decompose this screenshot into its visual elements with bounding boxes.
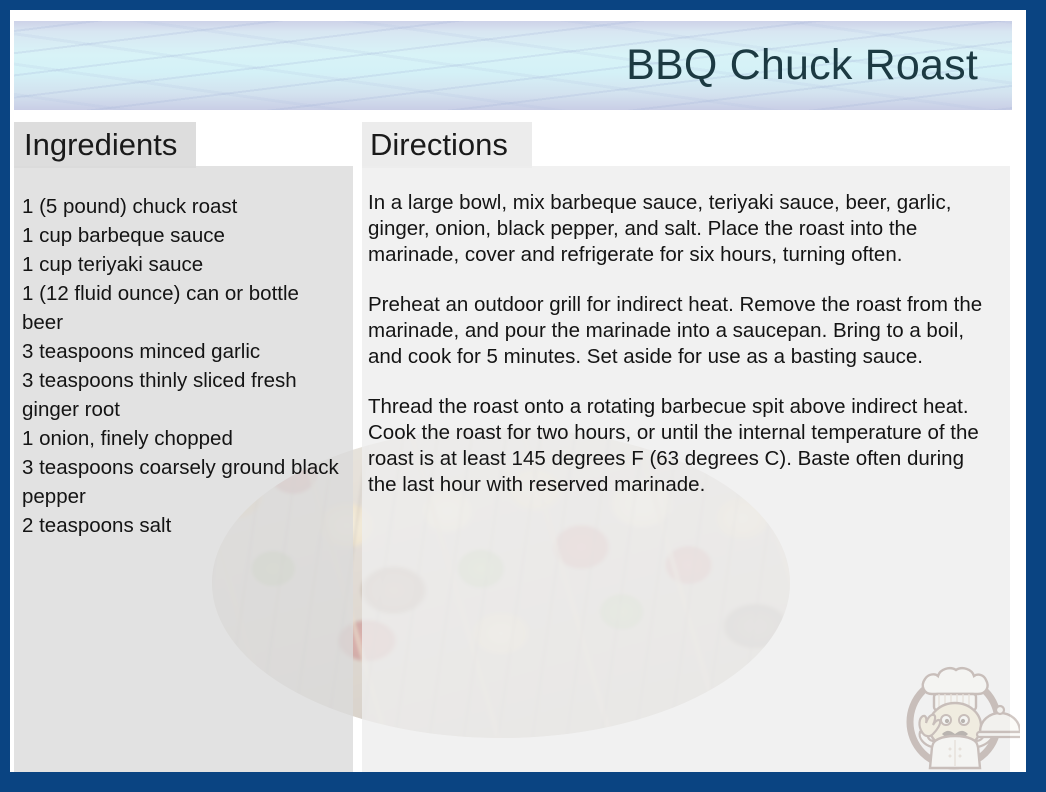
- list-item: 1 (12 fluid ounce) can or bottle beer: [22, 279, 341, 337]
- card-border-bottom: [0, 772, 1046, 792]
- recipe-card: BBQ Chuck Roast Ingredients 1 (5 pound) …: [0, 0, 1046, 792]
- list-item: 2 teaspoons salt: [22, 511, 341, 540]
- chef-logo-icon: [892, 648, 1020, 776]
- directions-tab: Directions: [362, 122, 532, 168]
- directions-heading: Directions: [370, 127, 508, 163]
- ingredients-heading: Ingredients: [24, 127, 177, 163]
- list-item: 1 onion, finely chopped: [22, 424, 341, 453]
- card-border-top: [0, 0, 1046, 10]
- list-item: 3 teaspoons thinly sliced fresh ginger r…: [22, 366, 341, 424]
- list-item: 1 (5 pound) chuck roast: [22, 192, 341, 221]
- direction-step: Preheat an outdoor grill for indirect he…: [368, 292, 996, 370]
- card-border-right: [1026, 0, 1046, 792]
- ingredient-list: 1 (5 pound) chuck roast 1 cup barbeque s…: [22, 192, 341, 540]
- list-item: 1 cup teriyaki sauce: [22, 250, 341, 279]
- header-banner: BBQ Chuck Roast: [14, 21, 1012, 110]
- ingredients-panel: 1 (5 pound) chuck roast 1 cup barbeque s…: [14, 166, 353, 772]
- direction-step: Thread the roast onto a rotating barbecu…: [368, 394, 996, 498]
- ingredients-tab: Ingredients: [14, 122, 196, 168]
- list-item: 3 teaspoons coarsely ground black pepper: [22, 453, 341, 511]
- page-title: BBQ Chuck Roast: [626, 41, 1012, 90]
- list-item: 3 teaspoons minced garlic: [22, 337, 341, 366]
- direction-step: In a large bowl, mix barbeque sauce, ter…: [368, 190, 996, 268]
- list-item: 1 cup barbeque sauce: [22, 221, 341, 250]
- card-border-left: [0, 0, 10, 792]
